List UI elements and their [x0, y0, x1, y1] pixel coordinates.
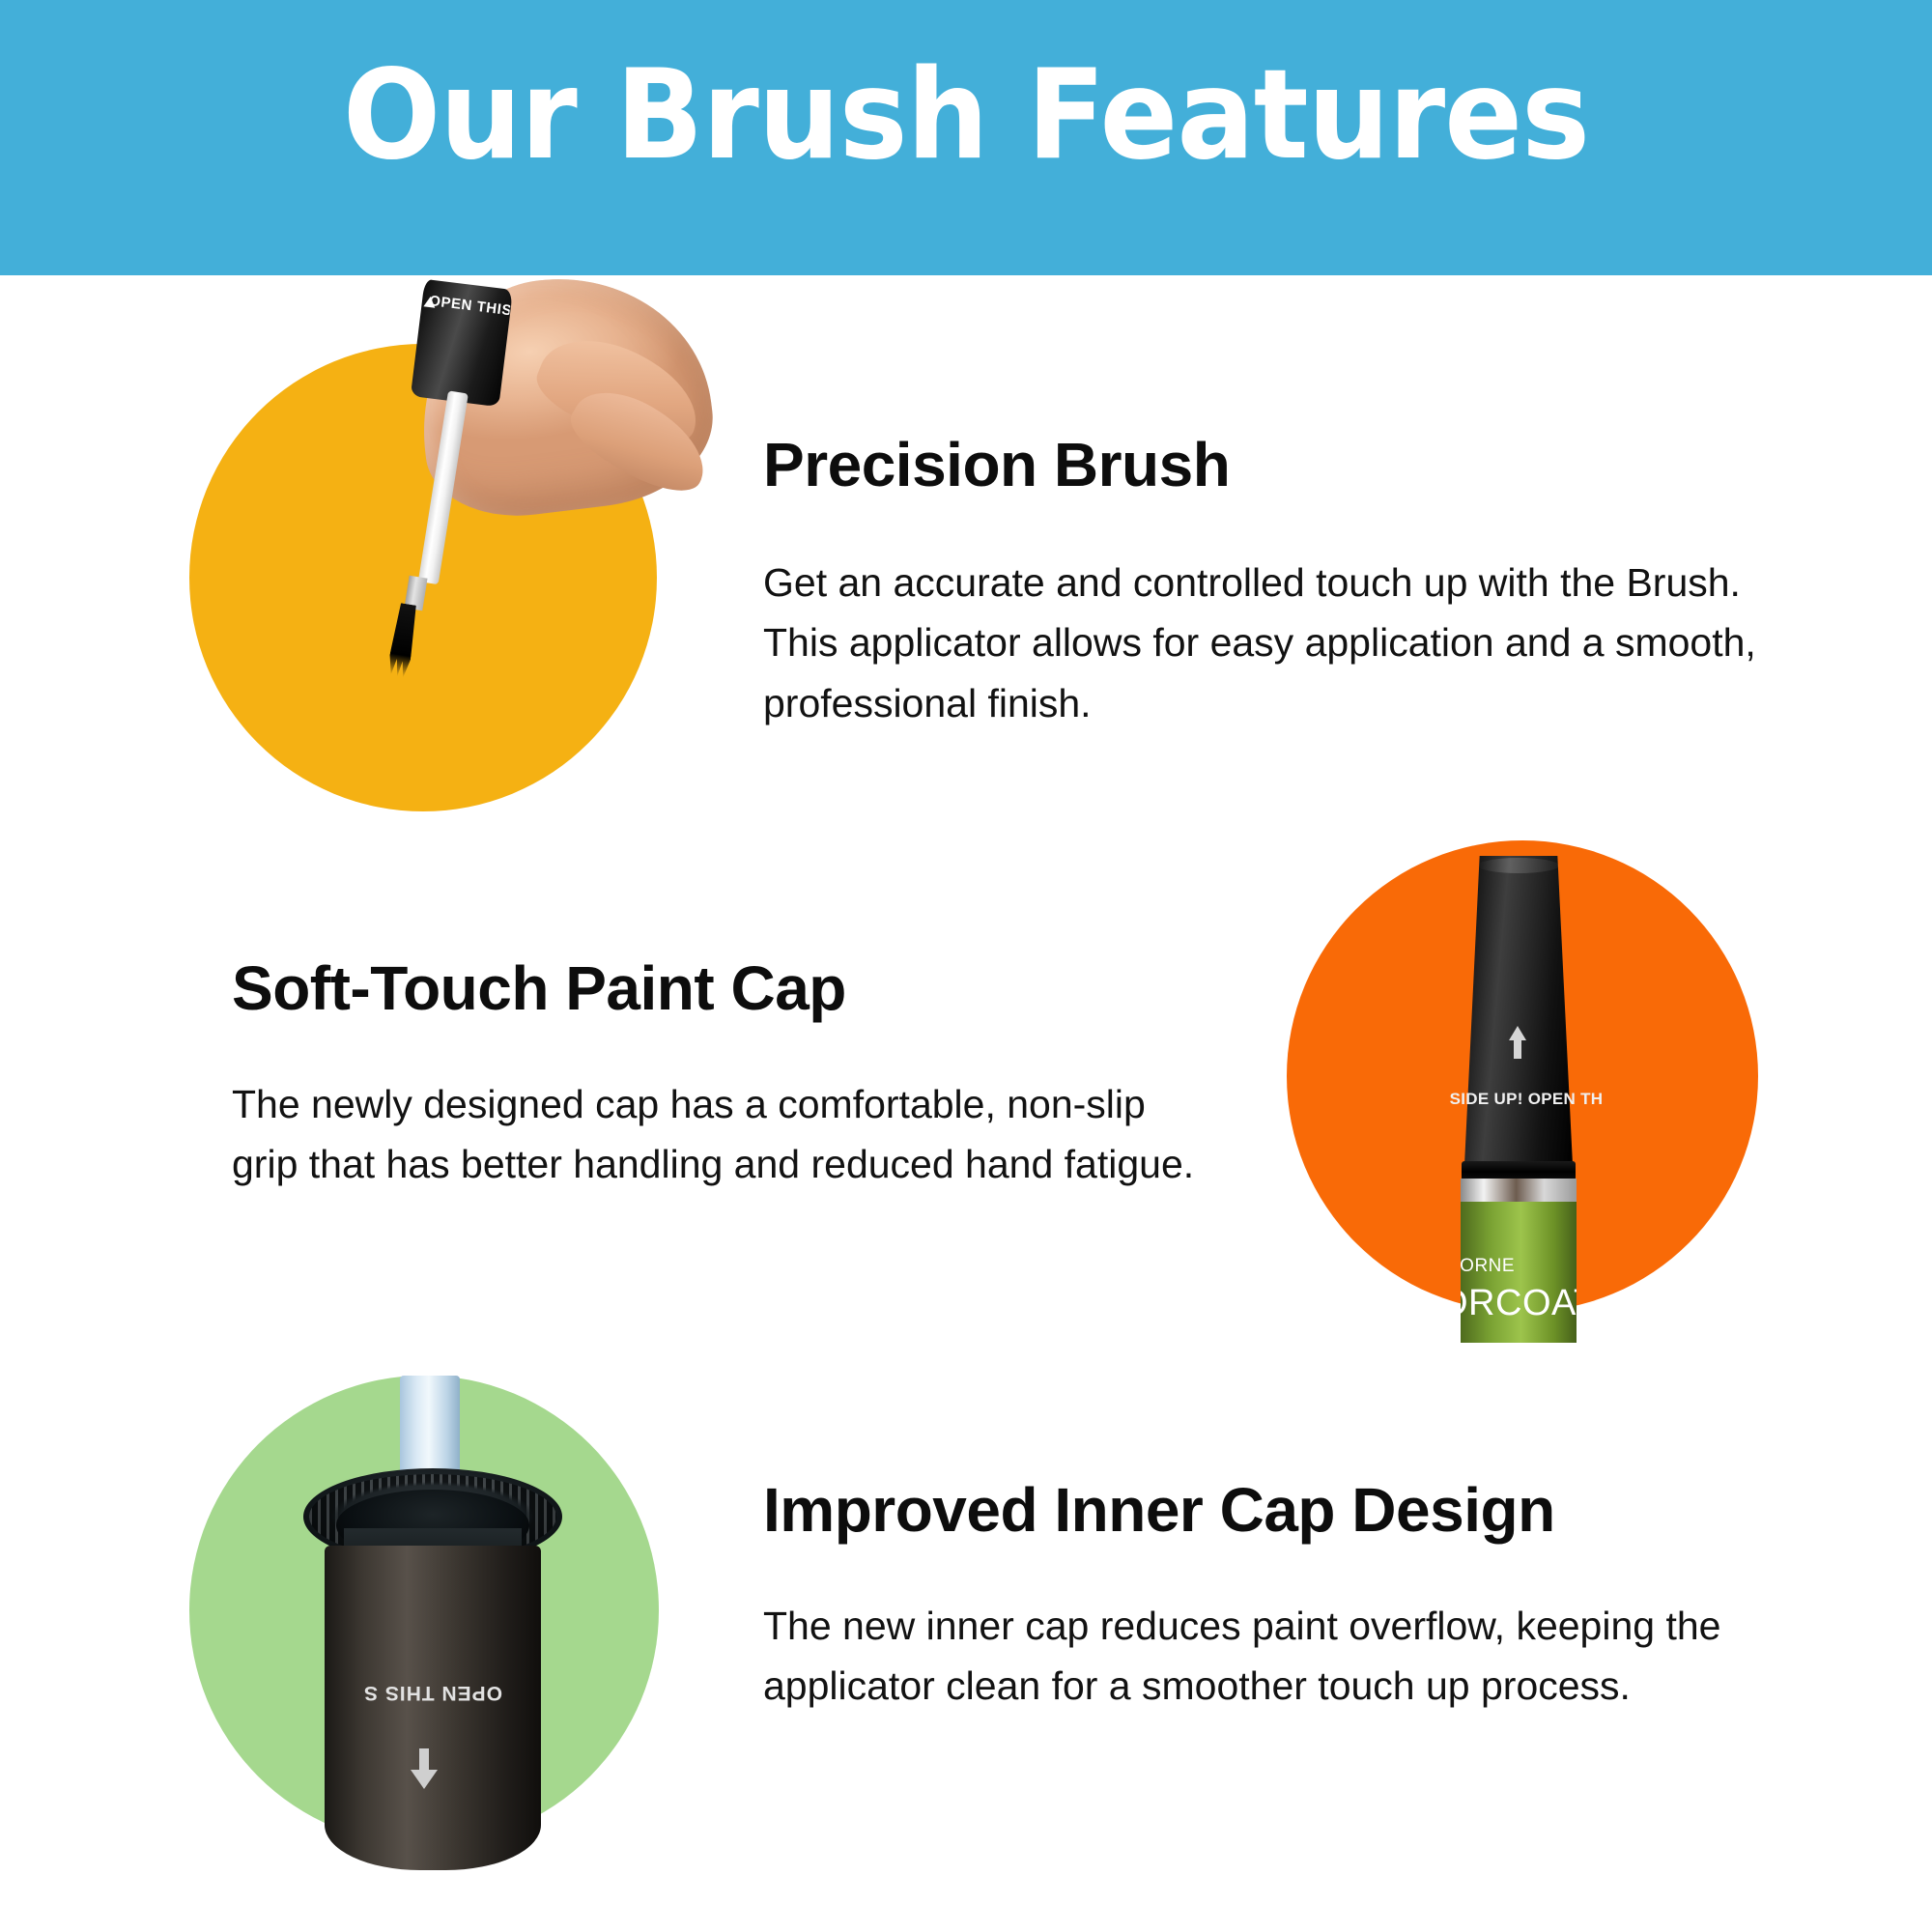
paint-cap-body: [1464, 856, 1573, 1165]
page-title: Our Brush Features: [68, 54, 1864, 178]
bottle-silver-band: [1461, 1179, 1577, 1204]
feature-3-heading: Improved Inner Cap Design: [763, 1478, 1555, 1543]
outer-cap-label: OPEN THIS S: [325, 1681, 541, 1704]
cap-highlight: [1478, 858, 1559, 873]
feature-3-body: The new inner cap reduces paint overflow…: [763, 1596, 1768, 1717]
soft-touch-cap-photo: SIDE UP! OPEN TH BORNE ORCOAT: [1287, 821, 1758, 1343]
bottle-brand-text: BORNE: [1461, 1256, 1577, 1277]
down-arrow-icon: [411, 1770, 438, 1789]
feature-1-heading: Precision Brush: [763, 433, 1230, 497]
up-arrow-stem: [1514, 1039, 1521, 1059]
header-banner: Our Brush Features: [0, 0, 1932, 275]
feature-1-body: Get an accurate and controlled touch up …: [763, 553, 1768, 733]
inner-cap-photo: OPEN THIS S: [189, 1376, 659, 1917]
bottle-product-text: ORCOAT: [1461, 1283, 1577, 1324]
feature-2-heading: Soft-Touch Paint Cap: [232, 956, 846, 1021]
up-arrow-icon: [1509, 1026, 1526, 1040]
feature-2-body: The newly designed cap has a comfortable…: [232, 1074, 1212, 1195]
precision-brush-photo: OPEN THIS: [189, 261, 657, 840]
infographic-page: Our Brush Features OPEN THIS Precision B…: [0, 0, 1932, 1932]
cap-collar: [1462, 1161, 1576, 1180]
down-arrow-stem: [419, 1748, 429, 1772]
paint-cap-label: SIDE UP! OPEN TH: [1449, 1090, 1604, 1109]
brush-bristles: [386, 603, 419, 679]
outer-cap-barrel: [325, 1546, 541, 1870]
